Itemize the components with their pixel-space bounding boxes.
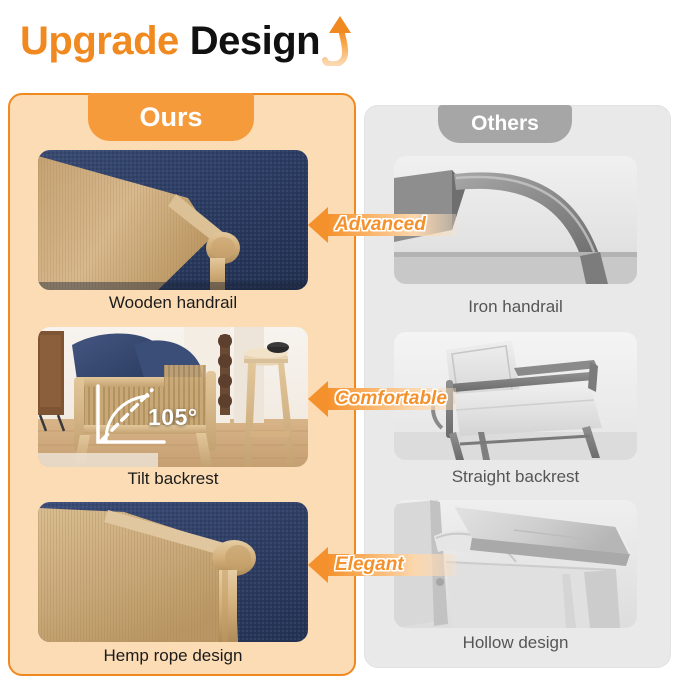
title-word-design: Design xyxy=(190,18,320,64)
arrow-body: Elegant xyxy=(327,554,456,576)
angle-value-label: 105° xyxy=(148,404,198,431)
arrow-body: Comfortable xyxy=(327,388,456,410)
title-word-upgrade: Upgrade xyxy=(20,18,179,64)
badge-others: Others xyxy=(438,105,572,143)
infographic-root: Upgrade Design Ours Others xyxy=(0,0,679,686)
caption-others-row2: Straight backrest xyxy=(394,466,637,488)
arrow-head-icon xyxy=(308,381,328,417)
caption-others-row1: Iron handrail xyxy=(394,296,637,318)
page-title: Upgrade Design xyxy=(20,18,355,70)
arrow-comfortable: Comfortable xyxy=(308,381,456,417)
arrow-advanced: Advanced xyxy=(308,207,456,243)
arrow-label-comfortable: Comfortable xyxy=(327,388,447,410)
arrow-label-advanced: Advanced xyxy=(327,214,426,236)
arrow-elegant: Elegant xyxy=(308,547,456,583)
curved-up-arrow-icon xyxy=(321,16,355,64)
wooden-handrail-photo xyxy=(38,150,308,290)
caption-others-row3: Hollow design xyxy=(394,632,637,654)
arrow-head-icon xyxy=(308,547,328,583)
arrow-head-icon xyxy=(308,207,328,243)
arrow-body: Advanced xyxy=(327,214,456,236)
tilt-backrest-photo xyxy=(38,327,308,467)
hemp-rope-design-photo xyxy=(38,502,308,642)
caption-ours-row3: Hemp rope design xyxy=(38,645,308,667)
caption-ours-row1: Wooden handrail xyxy=(38,292,308,314)
badge-ours: Ours xyxy=(88,93,254,141)
caption-ours-row2: Tilt backrest xyxy=(38,468,308,490)
arrow-label-elegant: Elegant xyxy=(327,554,404,576)
